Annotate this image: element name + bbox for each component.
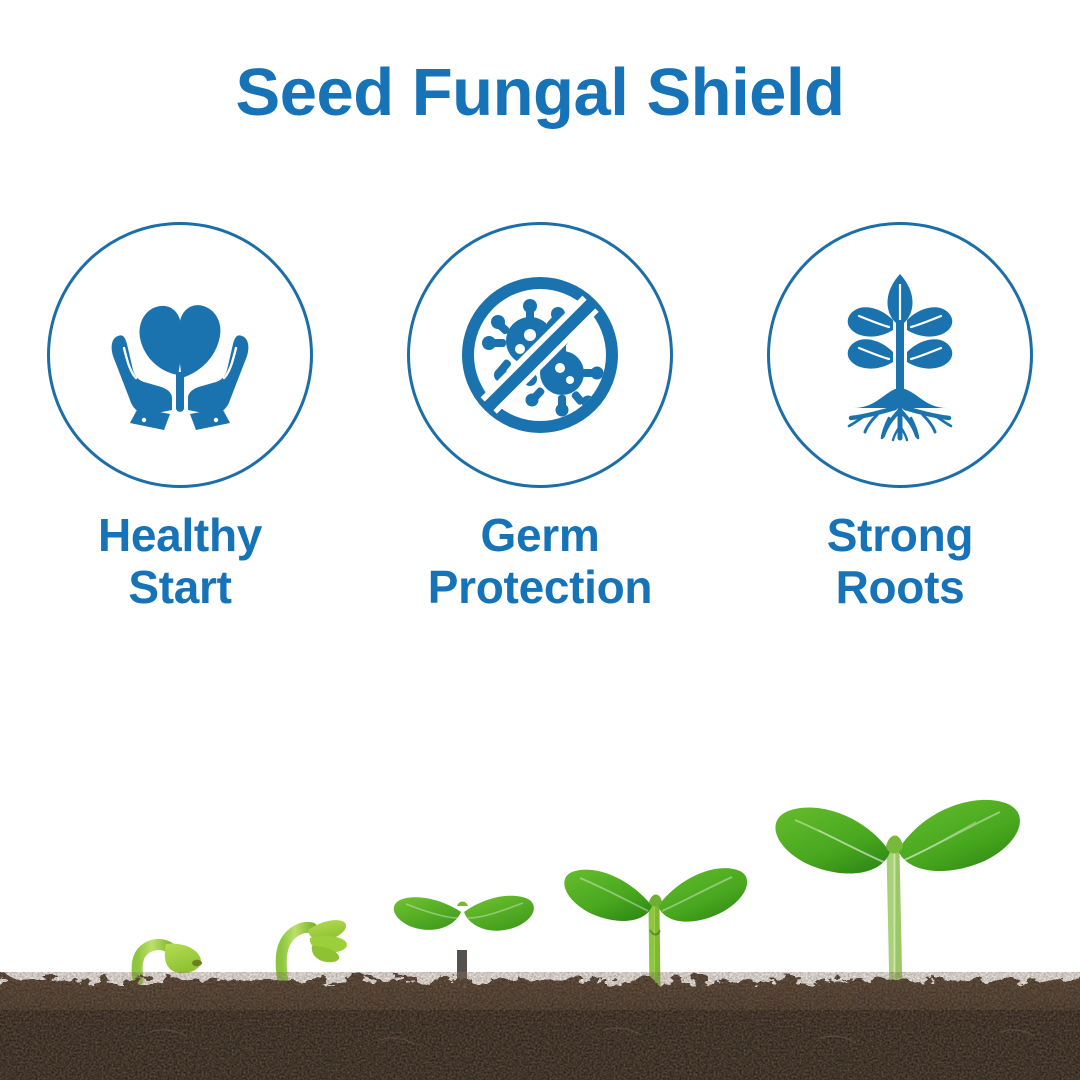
feature-icon-circle: [407, 222, 673, 488]
feature-strong-roots[interactable]: Strong Roots: [720, 222, 1080, 613]
feature-icon-circle: [767, 222, 1033, 488]
feature-icon-circle: [47, 222, 313, 488]
feature-row: Healthy Start: [0, 222, 1080, 613]
plant-with-roots-icon: [825, 268, 975, 443]
poster-canvas: Seed Fungal Shield: [0, 0, 1080, 1080]
feature-germ-protection[interactable]: Germ Protection: [360, 222, 720, 613]
seedling-growth-stages-photo: [0, 680, 1080, 1080]
feature-label: Strong Roots: [827, 510, 973, 613]
feature-healthy-start[interactable]: Healthy Start: [0, 222, 360, 613]
soil-band: [0, 972, 1080, 1080]
page-title: Seed Fungal Shield: [0, 58, 1080, 128]
feature-label: Healthy Start: [98, 510, 262, 613]
hands-holding-plant-icon: [100, 280, 260, 430]
no-germs-icon: [454, 269, 626, 441]
feature-label: Germ Protection: [428, 510, 652, 613]
